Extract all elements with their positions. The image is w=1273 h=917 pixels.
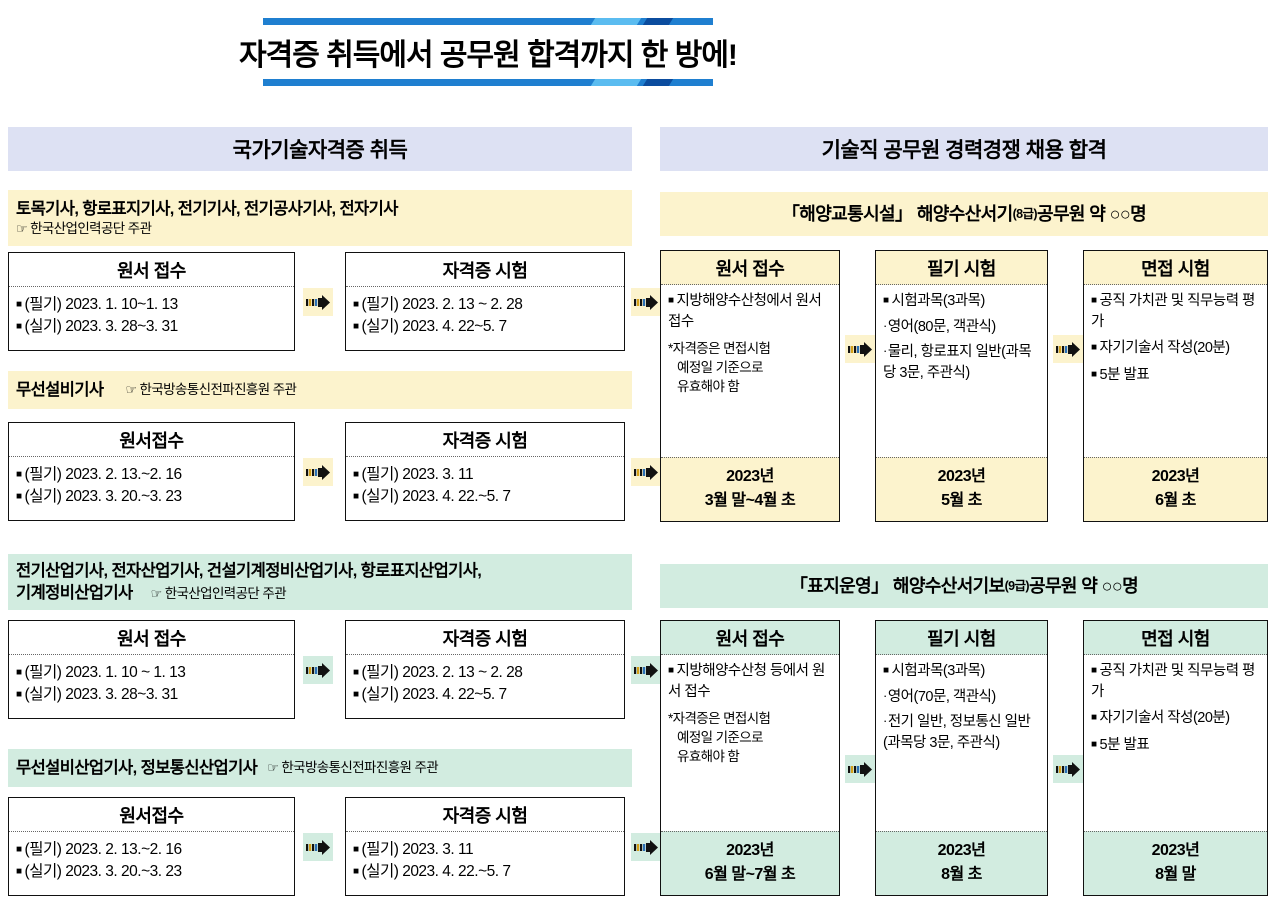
group-title-right-2-pre: 「표지운영」 해양수산서기보	[790, 574, 1005, 598]
dot-icon: ·	[883, 343, 887, 358]
step-box-l4-2-body: ■(필기) 2023. 3. 11 ■(실기) 2023. 4. 22.~5. …	[346, 832, 624, 895]
step-box-l3-1-body: ■(필기) 2023. 1. 10 ~ 1. 13 ■(실기) 2023. 3.…	[9, 655, 294, 718]
group-title-left-4: 무선설비산업기사, 정보통신산업기사 ☞한국방송통신전파진흥원 주관	[8, 749, 632, 787]
group-title-left-3-row2: 기계정비산업기사 ☞한국산업인력공단 주관	[16, 582, 286, 604]
arrow-r2-2	[1053, 755, 1083, 783]
bullet-icon: ■	[353, 866, 359, 877]
line: ■(필기) 2023. 1. 10 ~ 1. 13	[16, 662, 287, 684]
bullet-icon: ■	[883, 295, 889, 306]
line: ·영어(70문, 객관식)	[883, 687, 1041, 708]
title-banner: 자격증 취득에서 공무원 합격까지 한 방에!	[263, 18, 713, 86]
arrow-l2-1	[303, 458, 333, 486]
group-title-left-4-organizer: 한국방송통신전파진흥원 주관	[281, 760, 438, 775]
group-title-left-4-text: 무선설비산업기사, 정보통신산업기사	[16, 757, 257, 779]
line: ■(필기) 2023. 3. 11	[353, 839, 617, 861]
bullet-icon: ■	[16, 866, 22, 877]
step-box-r2-3-foot: 2023년 8월 말	[1084, 831, 1267, 895]
line: ■(실기) 2023. 4. 22~5. 7	[353, 316, 617, 338]
group-title-left-2: 무선설비기사 ☞한국방송통신전파진흥원 주관	[8, 371, 632, 409]
bullet-icon: ■	[1091, 665, 1097, 676]
bullet-icon: ■	[353, 667, 359, 678]
group-title-left-1-organizer: 한국산업인력공단 주관	[30, 221, 151, 236]
step-box-l2-2-head: 자격증 시험	[346, 423, 624, 457]
line: ■(실기) 2023. 3. 28~3. 31	[16, 684, 287, 706]
bullet-icon: ■	[353, 844, 359, 855]
bullet-icon: ■	[16, 667, 22, 678]
step-box-r2-2-body: ■시험과목(3과목) ·영어(70문, 객관식) ·전기 일반, 정보통신 일반…	[876, 655, 1047, 831]
group-title-right-1-post: 공무원 약 ○○명	[1037, 202, 1146, 226]
arrow-l1-1	[303, 288, 333, 316]
section-header-left: 국가기술자격증 취득	[8, 127, 632, 171]
arrow-right-icon	[306, 663, 330, 678]
bullet-icon: ■	[1091, 712, 1097, 723]
line: ■(실기) 2023. 4. 22.~5. 7	[353, 861, 617, 883]
bullet-icon: ■	[353, 491, 359, 502]
foot-year: 2023년	[1152, 842, 1200, 859]
step-box-r2-2-foot: 2023년 8월 초	[876, 831, 1047, 895]
step-box-l1-2-body: ■(필기) 2023. 2. 13 ~ 2. 28 ■(실기) 2023. 4.…	[346, 287, 624, 350]
arrow-l4-to-right	[631, 833, 661, 861]
line: ■(필기) 2023. 1. 10~1. 13	[16, 294, 287, 316]
bullet-icon: ■	[353, 689, 359, 700]
group-title-left-3-organizer: 한국산업인력공단 주관	[165, 586, 286, 601]
bullet-icon: ■	[16, 491, 22, 502]
dot-icon: ·	[883, 318, 887, 333]
line: ■시험과목(3과목)	[883, 661, 1041, 682]
line: ■지방해양수산청 등에서 원서 접수	[668, 661, 833, 702]
group-title-left-3-text: 전기산업기사, 전자산업기사, 건설기계정비산업기사, 항로표지산업기사,	[16, 560, 481, 582]
step-box-l2-1: 원서접수 ■(필기) 2023. 2. 13.~2. 16 ■(실기) 2023…	[8, 422, 295, 521]
arrow-right-icon	[848, 762, 872, 777]
step-box-r1-2-head: 필기 시험	[876, 251, 1047, 285]
line: ■자기기술서 작성(20분)	[1091, 338, 1261, 359]
step-box-l4-1-body: ■(필기) 2023. 2. 13.~2. 16 ■(실기) 2023. 3. …	[9, 832, 294, 895]
step-box-r2-2: 필기 시험 ■시험과목(3과목) ·영어(70문, 객관식) ·전기 일반, 정…	[875, 620, 1048, 896]
bullet-icon: ■	[16, 844, 22, 855]
arrow-r2-1	[845, 755, 875, 783]
step-box-r1-1-note: *자격증은 면접시험 예정일 기준으로 유효해야 함	[668, 340, 833, 397]
step-box-l4-1-head: 원서접수	[9, 798, 294, 832]
step-box-l2-1-body: ■(필기) 2023. 2. 13.~2. 16 ■(실기) 2023. 3. …	[9, 457, 294, 520]
banner-accent-light-2	[591, 79, 641, 86]
arrow-right-icon	[634, 840, 658, 855]
bullet-icon: ■	[668, 295, 674, 306]
group-title-left-1: 토목기사, 항로표지기사, 전기기사, 전기공사기사, 전자기사 ☞한국산업인력…	[8, 190, 632, 246]
banner-accent-dark	[643, 18, 673, 25]
step-box-r1-3-body: ■공직 가치관 및 직무능력 평가 ■자기기술서 작성(20분) ■5분 발표	[1084, 285, 1267, 457]
group-title-right-1-pre: 「해양교통시설」 해양수산서기	[782, 202, 1013, 226]
step-box-r1-1-head: 원서 접수	[661, 251, 839, 285]
step-box-l1-1: 원서 접수 ■(필기) 2023. 1. 10~1. 13 ■(실기) 2023…	[8, 252, 295, 351]
banner-accent-light	[591, 18, 641, 25]
step-box-l3-1-head: 원서 접수	[9, 621, 294, 655]
step-box-l4-2-head: 자격증 시험	[346, 798, 624, 832]
step-box-r1-2: 필기 시험 ■시험과목(3과목) ·영어(80문, 객관식) ·물리, 항로표지…	[875, 250, 1048, 522]
step-box-r1-3-foot: 2023년 6월 초	[1084, 457, 1267, 521]
step-box-l3-2-head: 자격증 시험	[346, 621, 624, 655]
group-title-left-2-organizer-row: ☞한국방송통신전파진흥원 주관	[125, 381, 296, 399]
step-box-r2-1-foot: 2023년 6월 말~7월 초	[661, 831, 839, 895]
arrow-r1-2	[1053, 335, 1083, 363]
bullet-icon: ■	[353, 469, 359, 480]
bullet-icon: ■	[1091, 739, 1097, 750]
bullet-icon: ■	[353, 321, 359, 332]
line: ■(실기) 2023. 3. 28~3. 31	[16, 316, 287, 338]
foot-year: 2023년	[726, 842, 774, 859]
line: ■시험과목(3과목)	[883, 291, 1041, 312]
step-box-r1-2-body: ■시험과목(3과목) ·영어(80문, 객관식) ·물리, 항로표지 일반(과목…	[876, 285, 1047, 457]
foot-when: 6월 초	[1155, 492, 1196, 509]
step-box-r2-3-body: ■공직 가치관 및 직무능력 평가 ■자기기술서 작성(20분) ■5분 발표	[1084, 655, 1267, 831]
step-box-r1-1: 원서 접수 ■지방해양수산청에서 원서 접수 *자격증은 면접시험 예정일 기준…	[660, 250, 840, 522]
bullet-icon: ■	[668, 665, 674, 676]
line: ■(실기) 2023. 3. 20.~3. 23	[16, 486, 287, 508]
step-box-l1-2-head: 자격증 시험	[346, 253, 624, 287]
foot-year: 2023년	[938, 842, 986, 859]
step-box-r1-3-head: 면접 시험	[1084, 251, 1267, 285]
step-box-l1-1-body: ■(필기) 2023. 1. 10~1. 13 ■(실기) 2023. 3. 2…	[9, 287, 294, 350]
foot-year: 2023년	[938, 468, 986, 485]
page-title: 자격증 취득에서 공무원 합격까지 한 방에!	[193, 27, 783, 77]
step-box-r1-1-body: ■지방해양수산청에서 원서 접수 *자격증은 면접시험 예정일 기준으로 유효해…	[661, 285, 839, 457]
foot-year: 2023년	[726, 468, 774, 485]
pointing-hand-icon: ☞	[16, 220, 27, 238]
step-box-r2-3-head: 면접 시험	[1084, 621, 1267, 655]
step-box-r2-1-note: *자격증은 면접시험 예정일 기준으로 유효해야 함	[668, 710, 833, 767]
step-box-r2-1-body: ■지방해양수산청 등에서 원서 접수 *자격증은 면접시험 예정일 기준으로 유…	[661, 655, 839, 831]
arrow-right-icon	[306, 465, 330, 480]
line: ·물리, 항로표지 일반(과목당 3문, 주관식)	[883, 342, 1041, 383]
group-title-left-4-organizer-row: ☞한국방송통신전파진흥원 주관	[267, 759, 438, 777]
arrow-l3-1	[303, 656, 333, 684]
step-box-l3-1: 원서 접수 ■(필기) 2023. 1. 10 ~ 1. 13 ■(실기) 20…	[8, 620, 295, 719]
bullet-icon: ■	[1091, 295, 1097, 306]
bullet-icon: ■	[1091, 369, 1097, 380]
arrow-l3-to-right	[631, 656, 661, 684]
step-box-l4-1: 원서접수 ■(필기) 2023. 2. 13.~2. 16 ■(실기) 2023…	[8, 797, 295, 896]
banner-accent-dark-2	[643, 79, 673, 86]
line: ■(실기) 2023. 4. 22.~5. 7	[353, 486, 617, 508]
group-title-left-3-text2: 기계정비산업기사	[16, 584, 133, 602]
bullet-icon: ■	[16, 469, 22, 480]
line: ■(필기) 2023. 2. 13 ~ 2. 28	[353, 662, 617, 684]
foot-when: 5월 초	[941, 492, 982, 509]
step-box-l1-1-head: 원서 접수	[9, 253, 294, 287]
step-box-r2-2-head: 필기 시험	[876, 621, 1047, 655]
step-box-r2-3: 면접 시험 ■공직 가치관 및 직무능력 평가 ■자기기술서 작성(20분) ■…	[1083, 620, 1268, 896]
step-box-l2-1-head: 원서접수	[9, 423, 294, 457]
group-title-right-2: 「표지운영」 해양수산서기보(9급) 공무원 약 ○○명	[660, 564, 1268, 608]
dot-icon: ·	[883, 688, 887, 703]
line: ·영어(80문, 객관식)	[883, 317, 1041, 338]
line: ■(실기) 2023. 4. 22~5. 7	[353, 684, 617, 706]
arrow-r1-1	[845, 335, 875, 363]
foot-year: 2023년	[1152, 468, 1200, 485]
step-box-l1-2: 자격증 시험 ■(필기) 2023. 2. 13 ~ 2. 28 ■(실기) 2…	[345, 252, 625, 351]
line: ■(필기) 2023. 2. 13 ~ 2. 28	[353, 294, 617, 316]
arrow-right-icon	[1056, 342, 1080, 357]
group-title-left-1-organizer-row: ☞한국산업인력공단 주관	[16, 220, 151, 238]
group-title-left-2-organizer: 한국방송통신전파진흥원 주관	[140, 382, 297, 397]
bullet-icon: ■	[1091, 342, 1097, 353]
bullet-icon: ■	[353, 299, 359, 310]
arrow-l1-to-right	[631, 288, 661, 316]
step-box-l3-2: 자격증 시험 ■(필기) 2023. 2. 13 ~ 2. 28 ■(실기) 2…	[345, 620, 625, 719]
arrow-right-icon	[634, 295, 658, 310]
foot-when: 6월 말~7월 초	[705, 866, 795, 883]
dot-icon: ·	[883, 713, 887, 728]
group-title-left-3: 전기산업기사, 전자산업기사, 건설기계정비산업기사, 항로표지산업기사, 기계…	[8, 554, 632, 610]
group-title-left-1-text: 토목기사, 항로표지기사, 전기기사, 전기공사기사, 전자기사	[16, 198, 398, 220]
group-title-left-2-text: 무선설비기사	[16, 379, 103, 401]
group-title-right-1-grade: (8급)	[1013, 206, 1037, 223]
step-box-l2-2: 자격증 시험 ■(필기) 2023. 3. 11 ■(실기) 2023. 4. …	[345, 422, 625, 521]
group-title-right-2-post: 공무원 약 ○○명	[1029, 574, 1138, 598]
line: ■공직 가치관 및 직무능력 평가	[1091, 661, 1261, 702]
bullet-icon: ■	[16, 321, 22, 332]
arrow-l2-to-right	[631, 458, 661, 486]
step-box-l2-2-body: ■(필기) 2023. 3. 11 ■(실기) 2023. 4. 22.~5. …	[346, 457, 624, 520]
step-box-r2-1: 원서 접수 ■지방해양수산청 등에서 원서 접수 *자격증은 면접시험 예정일 …	[660, 620, 840, 896]
step-box-l4-2: 자격증 시험 ■(필기) 2023. 3. 11 ■(실기) 2023. 4. …	[345, 797, 625, 896]
line: ■(필기) 2023. 2. 13.~2. 16	[16, 464, 287, 486]
banner-bar-bottom	[263, 79, 713, 86]
foot-when: 8월 초	[941, 866, 982, 883]
step-box-l3-2-body: ■(필기) 2023. 2. 13 ~ 2. 28 ■(실기) 2023. 4.…	[346, 655, 624, 718]
arrow-right-icon	[1056, 762, 1080, 777]
arrow-right-icon	[634, 465, 658, 480]
line: ■지방해양수산청에서 원서 접수	[668, 291, 833, 332]
foot-when: 8월 말	[1155, 866, 1196, 883]
step-box-r1-2-foot: 2023년 5월 초	[876, 457, 1047, 521]
foot-when: 3월 말~4월 초	[705, 492, 795, 509]
line: ·전기 일반, 정보통신 일반(과목당 3문, 주관식)	[883, 712, 1041, 753]
arrow-right-icon	[848, 342, 872, 357]
group-title-right-1: 「해양교통시설」 해양수산서기(8급) 공무원 약 ○○명	[660, 192, 1268, 236]
step-box-r2-1-head: 원서 접수	[661, 621, 839, 655]
bullet-icon: ■	[883, 665, 889, 676]
arrow-right-icon	[306, 295, 330, 310]
banner-bar-top	[263, 18, 713, 25]
arrow-right-icon	[306, 840, 330, 855]
infographic-page: 자격증 취득에서 공무원 합격까지 한 방에! 국가기술자격증 취득 기술직 공…	[0, 0, 1273, 917]
group-title-right-2-grade: (9급)	[1005, 578, 1029, 595]
step-box-r1-1-foot: 2023년 3월 말~4월 초	[661, 457, 839, 521]
section-header-right: 기술직 공무원 경력경쟁 채용 합격	[660, 127, 1268, 171]
line: ■공직 가치관 및 직무능력 평가	[1091, 291, 1261, 332]
line: ■(필기) 2023. 3. 11	[353, 464, 617, 486]
line: ■자기기술서 작성(20분)	[1091, 708, 1261, 729]
pointing-hand-icon: ☞	[267, 759, 278, 777]
line: ■(필기) 2023. 2. 13.~2. 16	[16, 839, 287, 861]
line: ■5분 발표	[1091, 365, 1261, 386]
pointing-hand-icon: ☞	[151, 585, 162, 603]
step-box-r1-3: 면접 시험 ■공직 가치관 및 직무능력 평가 ■자기기술서 작성(20분) ■…	[1083, 250, 1268, 522]
line: ■5분 발표	[1091, 735, 1261, 756]
arrow-right-icon	[634, 663, 658, 678]
bullet-icon: ■	[16, 689, 22, 700]
line: ■(실기) 2023. 3. 20.~3. 23	[16, 861, 287, 883]
bullet-icon: ■	[16, 299, 22, 310]
pointing-hand-icon: ☞	[125, 381, 136, 399]
arrow-l4-1	[303, 833, 333, 861]
